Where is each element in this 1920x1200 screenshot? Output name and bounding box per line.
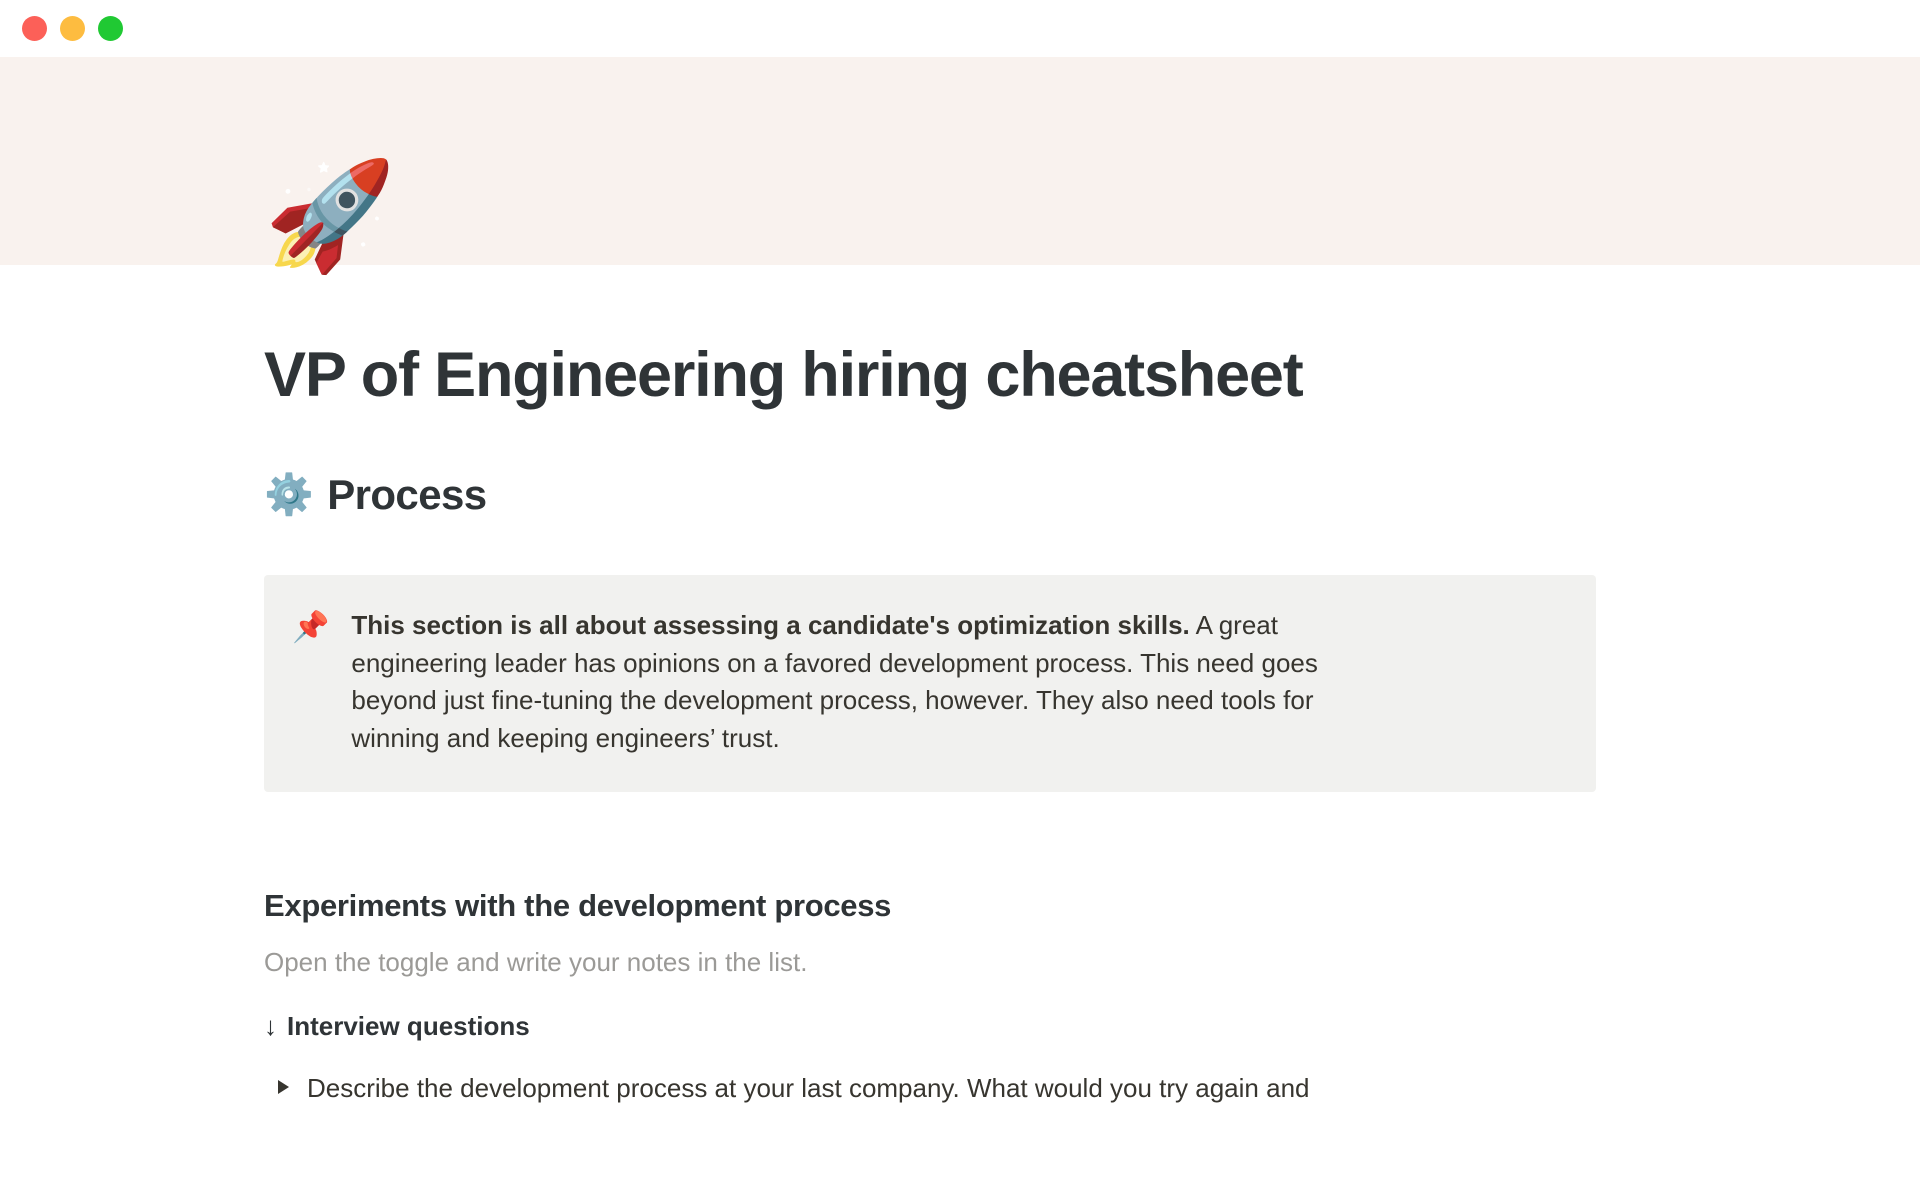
traffic-light-group xyxy=(22,16,123,41)
close-window-button[interactable] xyxy=(22,16,47,41)
page-title[interactable]: VP of Engineering hiring cheatsheet xyxy=(264,265,1860,411)
subsection-heading-experiments[interactable]: Experiments with the development process xyxy=(264,888,1860,924)
section-heading-process[interactable]: ⚙️ Process xyxy=(264,471,1860,519)
rocket-icon[interactable]: 🚀 xyxy=(264,163,396,269)
document-page: 🚀 VP of Engineering hiring cheatsheet ⚙️… xyxy=(0,265,1920,1106)
arrow-down-icon[interactable]: ↓ xyxy=(264,1013,277,1039)
callout-text: This section is all about assessing a ca… xyxy=(351,607,1351,759)
pushpin-icon: 📌 xyxy=(292,607,329,648)
section-heading-process-label: Process xyxy=(327,471,486,519)
page-content: 🚀 VP of Engineering hiring cheatsheet ⚙️… xyxy=(0,265,1920,1106)
callout-bold-lead: This section is all about assessing a ca… xyxy=(351,610,1189,640)
app-window: 🚀 VP of Engineering hiring cheatsheet ⚙️… xyxy=(0,0,1920,1200)
minimize-window-button[interactable] xyxy=(60,16,85,41)
toggle-interview-questions[interactable]: ↓ Interview questions xyxy=(264,1011,1860,1042)
toggle-interview-questions-label: Interview questions xyxy=(287,1011,530,1042)
gear-icon: ⚙️ xyxy=(264,475,313,515)
chevron-right-icon[interactable] xyxy=(278,1080,289,1094)
experiments-subtitle: Open the toggle and write your notes in … xyxy=(264,944,1860,980)
zoom-window-button[interactable] xyxy=(98,16,123,41)
toggle-list-item-text: Describe the development process at your… xyxy=(307,1070,1310,1106)
window-titlebar xyxy=(0,0,1920,57)
toggle-list-item[interactable]: Describe the development process at your… xyxy=(264,1070,1860,1106)
callout-block[interactable]: 📌 This section is all about assessing a … xyxy=(264,575,1596,793)
